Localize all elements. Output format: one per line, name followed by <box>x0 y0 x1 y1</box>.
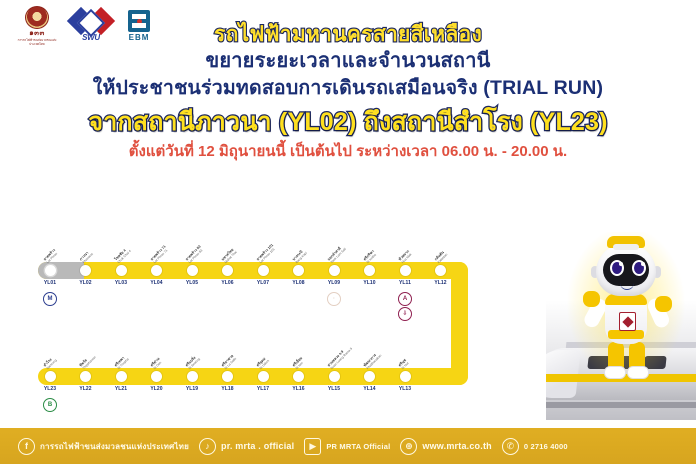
station-code-yl12: YL12 <box>434 280 446 286</box>
station-dot-yl13[interactable] <box>400 371 411 382</box>
station-dot-yl14[interactable] <box>364 371 375 382</box>
station-code-yl06: YL06 <box>221 280 233 286</box>
route-line-right <box>451 262 468 385</box>
station-dot-yl06[interactable] <box>222 265 233 276</box>
station-code-yl08: YL08 <box>292 280 304 286</box>
station-dot-yl15[interactable] <box>329 371 340 382</box>
footer-label: 0 2716 4000 <box>524 442 568 451</box>
footer-label: การรถไฟฟ้าขนส่งมวลชนแห่งประเทศไทย <box>40 440 189 453</box>
footer-item-tiktok[interactable]: ♪pr. mrta . official <box>199 438 294 455</box>
tiktok-icon: ♪ <box>199 438 216 455</box>
footer-item-facebook[interactable]: fการรถไฟฟ้าขนส่งมวลชนแห่งประเทศไทย <box>18 438 189 455</box>
station-dot-yl01[interactable] <box>45 265 56 276</box>
station-label-yl15: สวนหลวง ร.9Suan Luang Rama 9 <box>327 344 354 371</box>
station-code-yl15: YL15 <box>328 386 340 392</box>
footer-label: www.mrta.co.th <box>422 441 491 451</box>
footer-item-youtube[interactable]: ▶PR MRTA Official <box>304 438 390 455</box>
poster-root: ๑๓๓ การรถไฟฟ้าขนส่งมวลชนแห่งประเทศไทย SW… <box>0 0 696 464</box>
interchange-faint-icon-yl09[interactable]: · <box>327 292 341 306</box>
mascot-robot <box>578 236 674 418</box>
headline-line-3: ให้ประชาชนร่วมทดสอบการเดินรถเสมือนจริง (… <box>0 75 696 102</box>
footer-item-phone[interactable]: ✆0 2716 4000 <box>502 438 568 455</box>
mascot-badge-icon <box>619 312 636 331</box>
station-code-yl04: YL04 <box>150 280 162 286</box>
station-code-yl07: YL07 <box>257 280 269 286</box>
interchange-bus-icon-yl11[interactable]: ⇩ <box>398 307 412 321</box>
station-dot-yl20[interactable] <box>151 371 162 382</box>
station-dot-yl18[interactable] <box>222 371 233 382</box>
station-code-yl03: YL03 <box>115 280 127 286</box>
globe-icon: ⊕ <box>400 438 417 455</box>
station-dot-yl09[interactable] <box>329 265 340 276</box>
station-dot-yl23[interactable] <box>45 371 56 382</box>
station-dot-yl19[interactable] <box>187 371 198 382</box>
station-dot-yl22[interactable] <box>80 371 91 382</box>
station-code-yl05: YL05 <box>186 280 198 286</box>
station-code-yl14: YL14 <box>363 386 375 392</box>
station-code-yl17: YL17 <box>257 386 269 392</box>
headline-line-4: จากสถานีภาวนา (YL02) ถึงสถานีสำโรง (YL23… <box>0 106 696 138</box>
station-dot-yl17[interactable] <box>258 371 269 382</box>
headline-line-2: ขยายระยะเวลาและจำนวนสถานี <box>0 48 696 75</box>
headline-block: รถไฟฟ้ามหานครสายสีเหลือง ขยายระยะเวลาและ… <box>0 22 696 162</box>
station-dot-yl21[interactable] <box>116 371 127 382</box>
station-code-yl19: YL19 <box>186 386 198 392</box>
station-dot-yl10[interactable] <box>364 265 375 276</box>
station-code-yl18: YL18 <box>221 386 233 392</box>
interchange-arl-icon-yl11[interactable]: A <box>398 292 412 306</box>
station-code-yl21: YL21 <box>115 386 127 392</box>
station-code-yl16: YL16 <box>292 386 304 392</box>
station-dot-yl03[interactable] <box>116 265 127 276</box>
interchange-mrt-icon-yl01[interactable]: M <box>43 292 57 306</box>
footer-item-globe[interactable]: ⊕www.mrta.co.th <box>400 438 491 455</box>
station-dot-yl02[interactable] <box>80 265 91 276</box>
station-code-yl11: YL11 <box>399 280 411 286</box>
footer-label: pr. mrta . official <box>221 441 294 451</box>
facebook-icon: f <box>18 438 35 455</box>
station-code-yl09: YL09 <box>328 280 340 286</box>
station-code-yl13: YL13 <box>399 386 411 392</box>
footer-bar: fการรถไฟฟ้าขนส่งมวลชนแห่งประเทศไทย♪pr. m… <box>0 428 696 464</box>
interchange-bts-icon-yl23[interactable]: B <box>43 398 57 412</box>
station-code-yl22: YL22 <box>79 386 91 392</box>
phone-icon: ✆ <box>502 438 519 455</box>
station-dot-yl05[interactable] <box>187 265 198 276</box>
headline-line-5: ตั้งแต่วันที่ 12 มิถุนายนนี้ เป็นต้นไป ร… <box>0 142 696 162</box>
station-code-yl10: YL10 <box>363 280 375 286</box>
station-code-yl02: YL02 <box>79 280 91 286</box>
station-dot-yl12[interactable] <box>435 265 446 276</box>
station-code-yl01: YL01 <box>44 280 56 286</box>
station-dot-yl07[interactable] <box>258 265 269 276</box>
station-dot-yl04[interactable] <box>151 265 162 276</box>
station-dot-yl11[interactable] <box>400 265 411 276</box>
footer-label: PR MRTA Official <box>326 442 390 451</box>
station-code-yl23: YL23 <box>44 386 56 392</box>
station-code-yl20: YL20 <box>150 386 162 392</box>
station-dot-yl16[interactable] <box>293 371 304 382</box>
headline-line-1: รถไฟฟ้ามหานครสายสีเหลือง <box>0 22 696 48</box>
station-dot-yl08[interactable] <box>293 265 304 276</box>
youtube-icon: ▶ <box>304 438 321 455</box>
